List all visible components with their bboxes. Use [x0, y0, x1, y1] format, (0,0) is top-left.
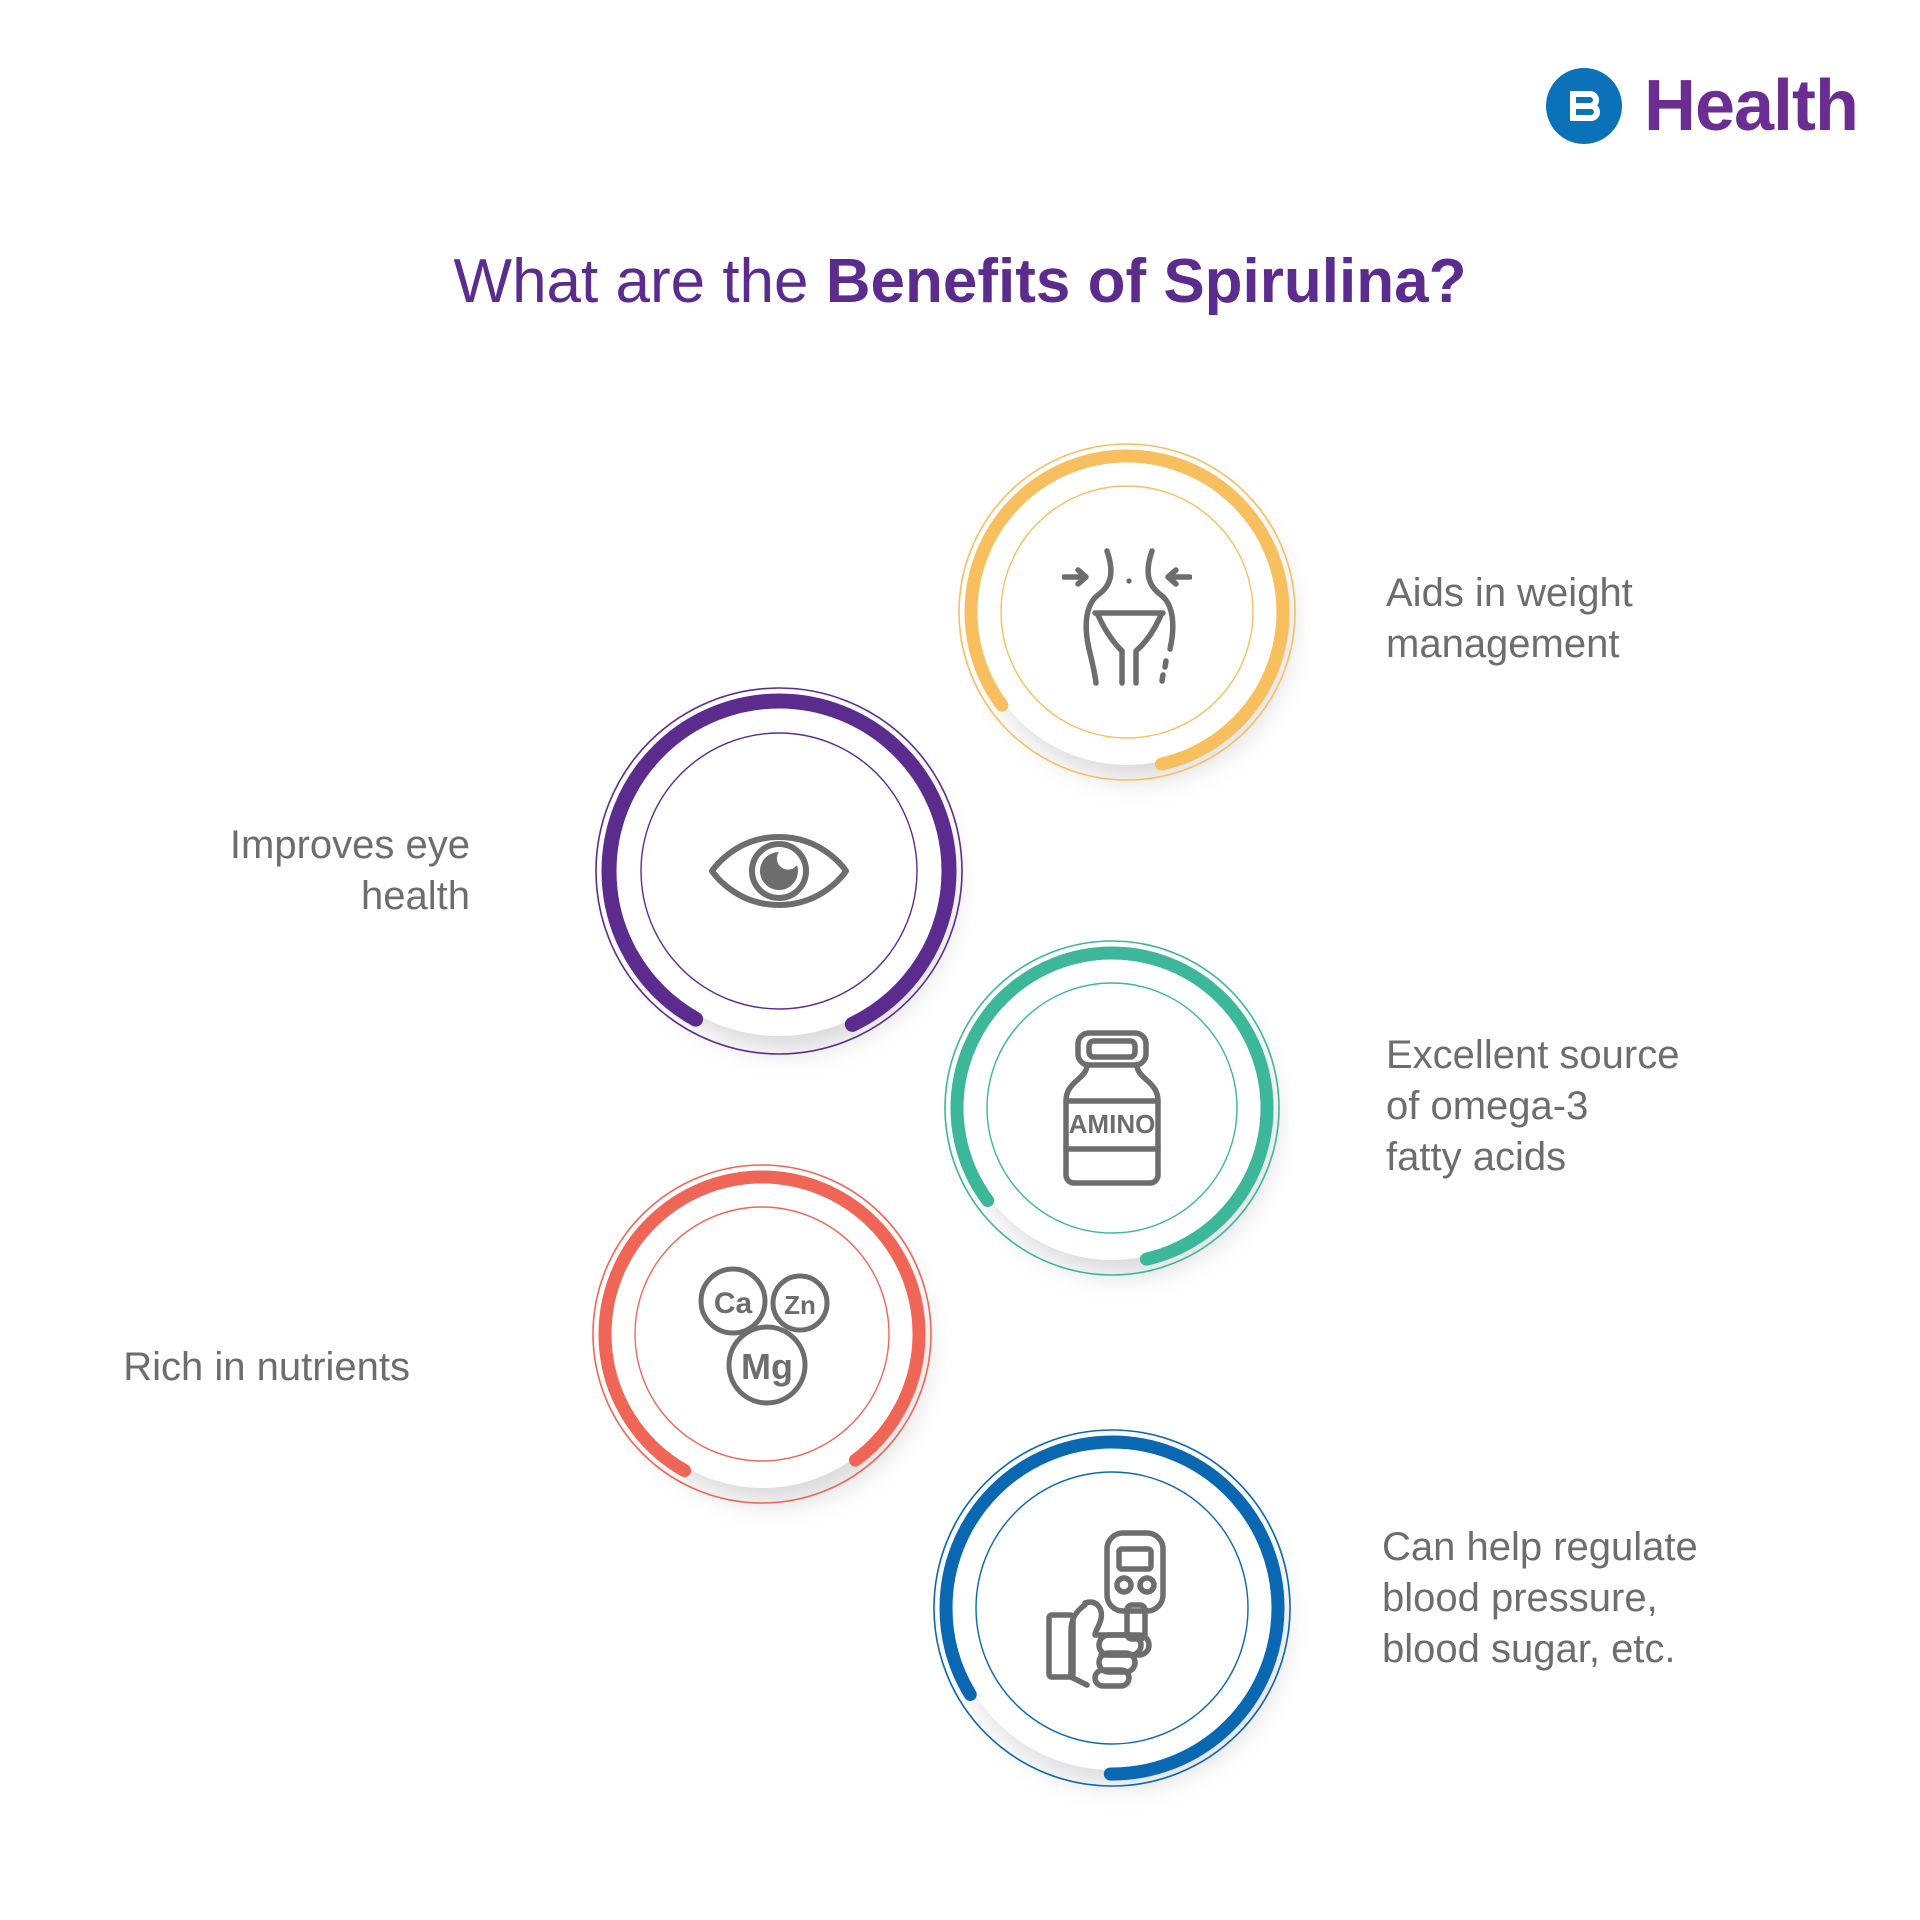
label-line: management — [1386, 619, 1806, 670]
label-line: blood pressure, — [1382, 1573, 1832, 1624]
minerals-icon: Ca Zn Mg — [687, 1254, 837, 1414]
benefit-label-bloodpressure: Can help regulate blood pressure, blood … — [1382, 1522, 1832, 1676]
mineral-label-mg: Mg — [741, 1346, 793, 1387]
label-line: Aids in weight — [1386, 568, 1806, 619]
mineral-label-ca: Ca — [714, 1287, 753, 1320]
mineral-label-zn: Zn — [784, 1290, 816, 1320]
label-line: fatty acids — [1386, 1132, 1816, 1183]
label-line: Improves eye — [140, 820, 470, 871]
benefit-label-eye: Improves eye health — [140, 820, 470, 922]
amino-supplement-bottle-icon: AMINO — [1052, 1023, 1172, 1193]
benefit-label-weight: Aids in weight management — [1386, 568, 1806, 670]
benefit-label-nutrients: Rich in nutrients — [90, 1342, 410, 1393]
label-line: Rich in nutrients — [90, 1342, 410, 1393]
benefit-label-omega: Excellent source of omega-3 fatty acids — [1386, 1030, 1816, 1184]
bottle-label-text: AMINO — [1069, 1109, 1156, 1139]
eye-icon — [699, 811, 859, 931]
glucometer-thumb-icon — [1039, 1523, 1189, 1693]
label-line: blood sugar, etc. — [1382, 1624, 1832, 1675]
slim-waist-icon — [1057, 532, 1197, 692]
label-line: of omega-3 — [1386, 1081, 1816, 1132]
label-line: Can help regulate — [1382, 1522, 1832, 1573]
label-line: Excellent source — [1386, 1030, 1816, 1081]
benefits-diagram: Aids in weight management Improves eye — [0, 0, 1920, 1920]
label-line: health — [140, 871, 470, 922]
